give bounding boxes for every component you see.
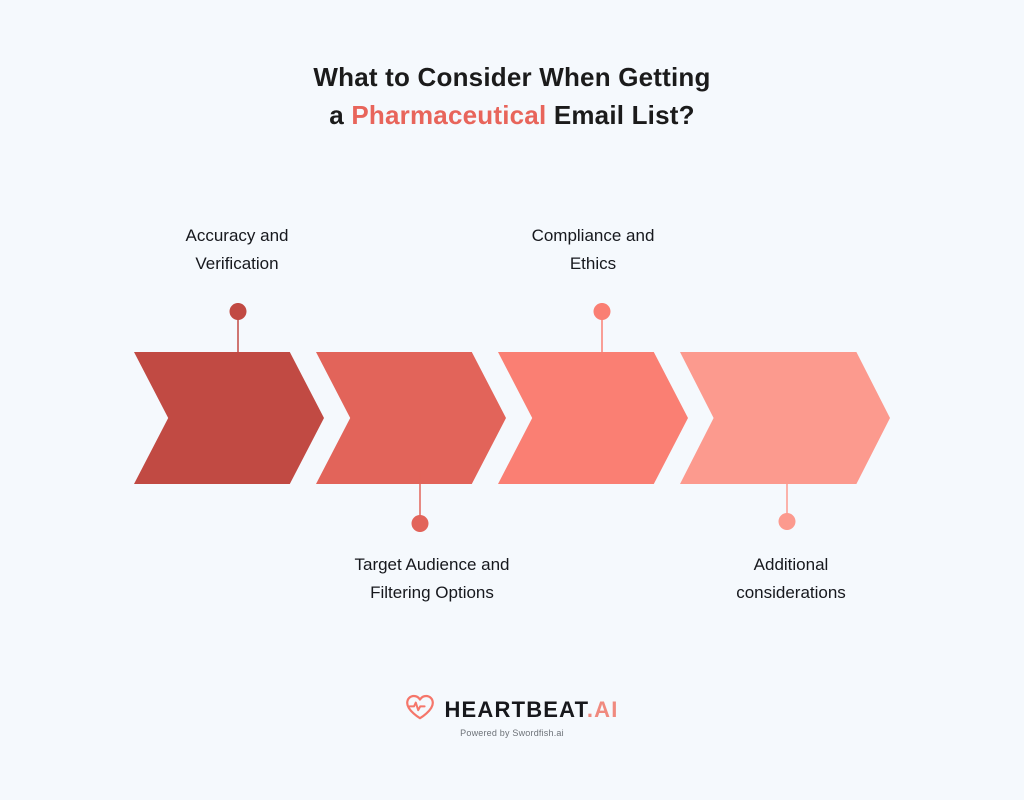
step-label-4-line-2: considerations — [676, 579, 906, 607]
logo-wordmark: HEARTBEAT.AI — [444, 697, 618, 723]
page-title: What to Consider When Getting a Pharmace… — [0, 58, 1024, 134]
connector-step-1 — [237, 303, 239, 363]
step-label-1-line-1: Accuracy and — [122, 222, 352, 250]
connector-dot — [779, 513, 796, 530]
step-label-3-line-2: Ethics — [478, 250, 708, 278]
step-label-2-line-1: Target Audience and — [317, 551, 547, 579]
title-accent-word: Pharmaceutical — [351, 100, 546, 130]
chevron-step-3[interactable] — [498, 352, 688, 484]
connector-dot — [412, 515, 429, 532]
chevron-step-2[interactable] — [316, 352, 506, 484]
infographic-page: { "background_color": "#f5f9fd", "title"… — [0, 0, 1024, 800]
logo-tagline: Powered by Swordfish.ai — [0, 728, 1024, 738]
connector-step-4 — [786, 472, 788, 530]
logo-name: HEARTBEAT — [444, 697, 586, 722]
step-label-2-line-2: Filtering Options — [317, 579, 547, 607]
connector-step-2 — [419, 472, 421, 532]
connector-step-3 — [601, 303, 603, 363]
logo-suffix: .AI — [587, 697, 619, 722]
step-label-4: Additional considerations — [676, 551, 906, 607]
step-label-1: Accuracy and Verification — [122, 222, 352, 278]
title-line-2-suffix: Email List? — [546, 100, 694, 130]
step-label-2: Target Audience and Filtering Options — [317, 551, 547, 607]
step-label-4-line-1: Additional — [676, 551, 906, 579]
title-line-2-prefix: a — [329, 100, 351, 130]
title-line-2: a Pharmaceutical Email List? — [0, 96, 1024, 134]
step-label-1-line-2: Verification — [122, 250, 352, 278]
step-label-3-line-1: Compliance and — [478, 222, 708, 250]
chevron-step-4[interactable] — [680, 352, 890, 484]
logo-lockup: HEARTBEAT.AI — [405, 694, 618, 725]
connector-dot — [594, 303, 611, 320]
title-line-1: What to Consider When Getting — [0, 58, 1024, 96]
connector-dot — [230, 303, 247, 320]
step-label-3: Compliance and Ethics — [478, 222, 708, 278]
footer-branding: HEARTBEAT.AI Powered by Swordfish.ai — [0, 694, 1024, 738]
chevron-funnel — [134, 352, 890, 484]
chevron-step-1[interactable] — [134, 352, 324, 484]
heartbeat-pulse-icon — [405, 694, 435, 725]
